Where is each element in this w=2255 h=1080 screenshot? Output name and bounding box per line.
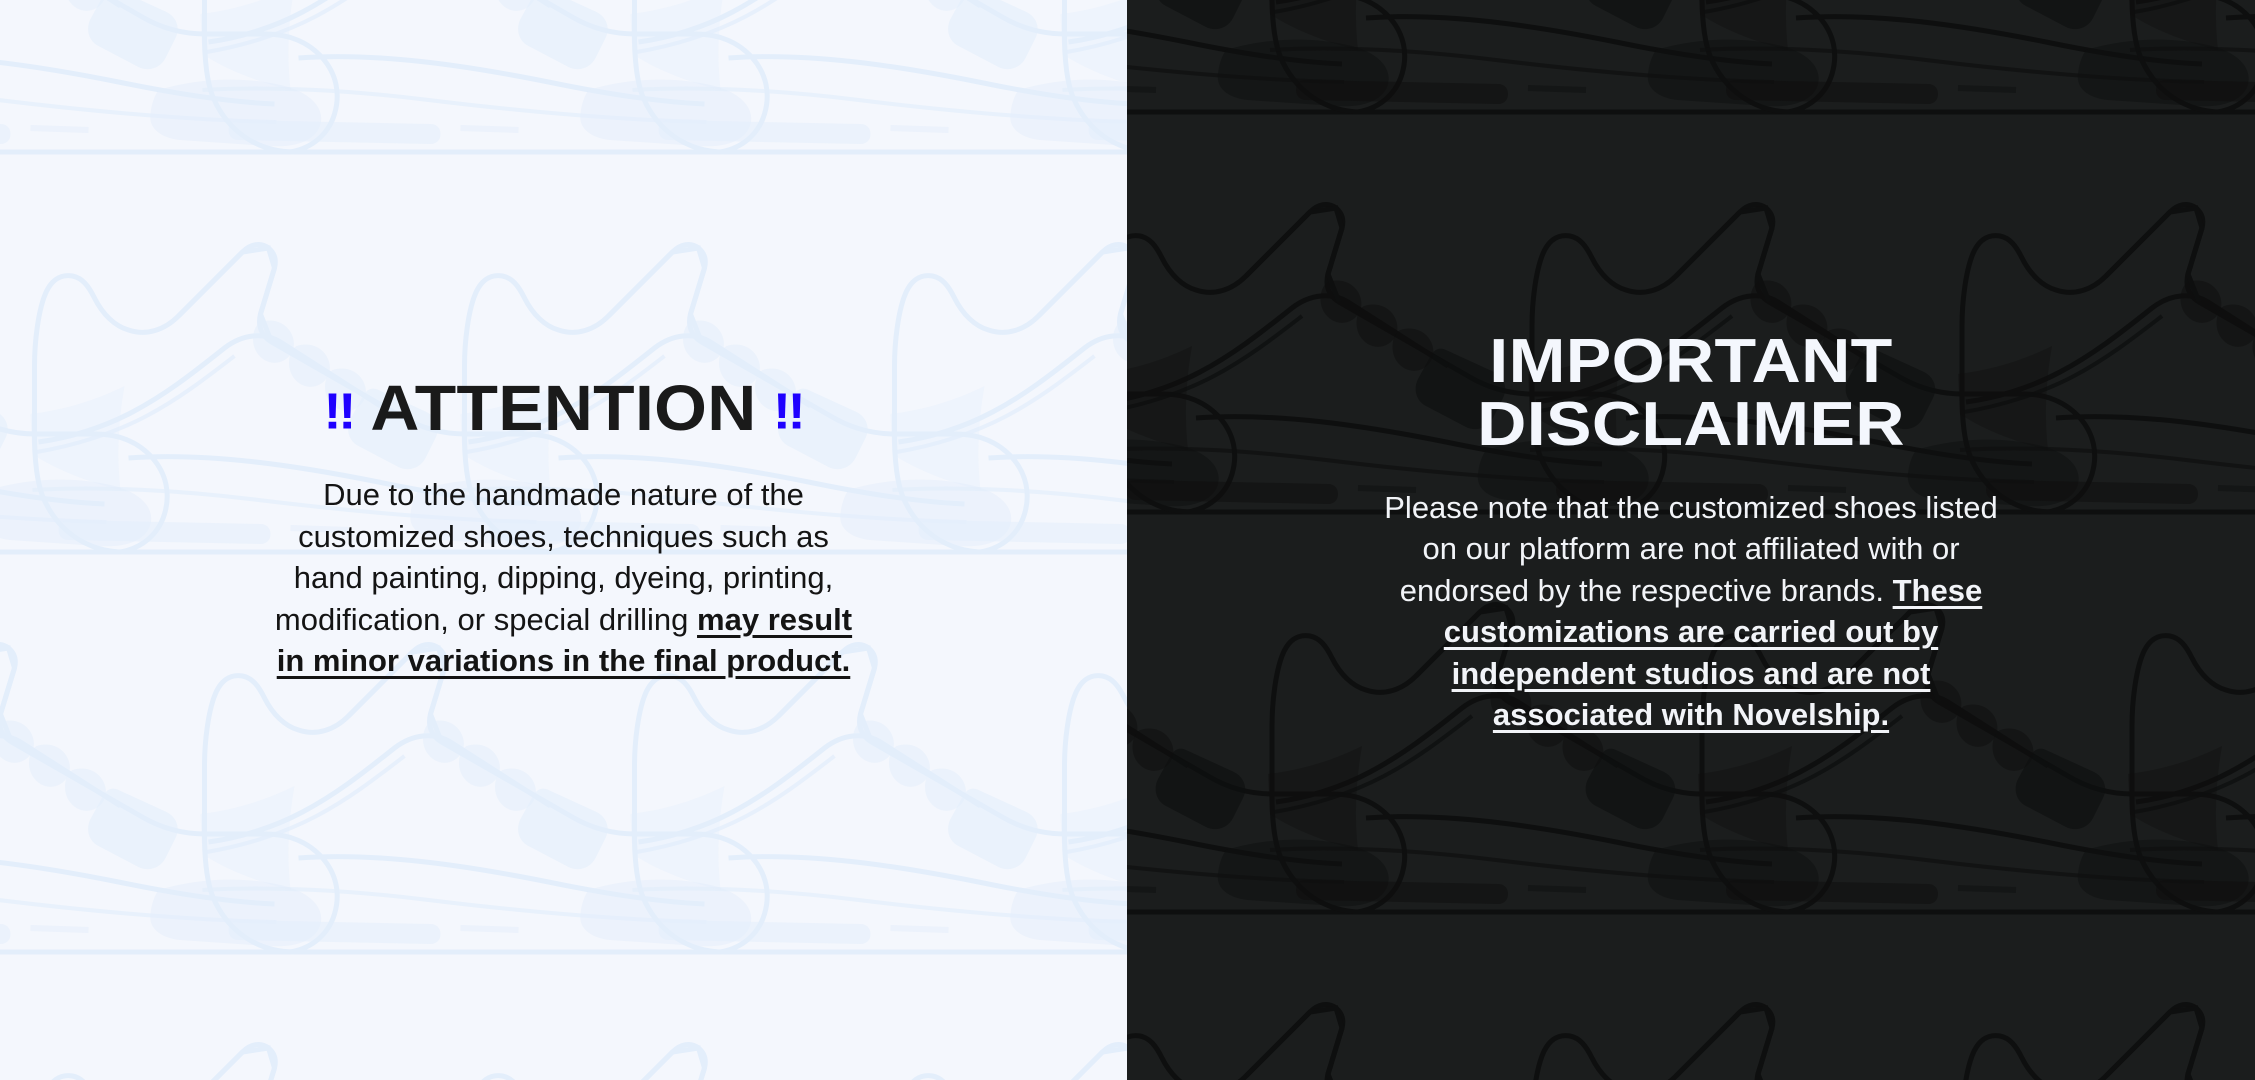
attention-heading: ‼ATTENTION‼ [9, 376, 1119, 440]
disclaimer-body: Please note that the customized shoes li… [1381, 487, 2001, 736]
disclaimer-banner: ‼ATTENTION‼ Due to the handmade nature o… [0, 0, 2255, 1080]
disclaimer-heading-line1: IMPORTANT [1489, 327, 1892, 396]
double-exclamation-left-icon: ‼ [324, 386, 355, 437]
attention-body: Due to the handmade nature of the custom… [264, 474, 864, 682]
double-exclamation-right-icon: ‼ [773, 386, 804, 437]
attention-heading-text: ATTENTION [370, 376, 756, 440]
disclaimer-heading: IMPORTANT DISCLAIMER [1339, 330, 2043, 456]
disclaimer-panel: IMPORTANT DISCLAIMER Please note that th… [1127, 0, 2255, 1080]
disclaimer-content: IMPORTANT DISCLAIMER Please note that th… [1127, 330, 2255, 736]
attention-panel: ‼ATTENTION‼ Due to the handmade nature o… [0, 0, 1127, 1080]
attention-content: ‼ATTENTION‼ Due to the handmade nature o… [0, 376, 1127, 682]
disclaimer-heading-line2: DISCLAIMER [1477, 390, 1905, 459]
